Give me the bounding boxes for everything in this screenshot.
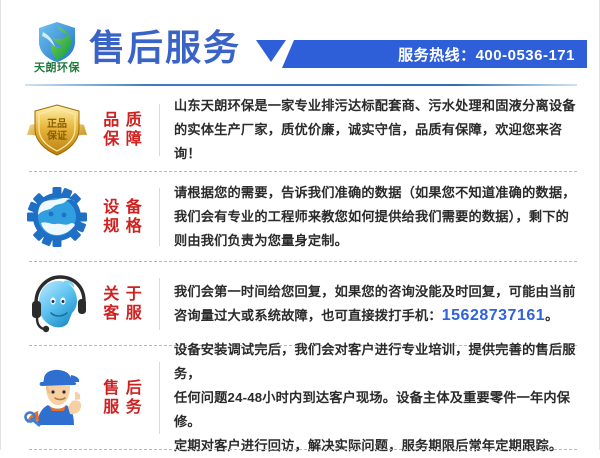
service-row-quality: 正品 保证 品 质 保 障 山东天朗环保是一家专业排污达标配套商、污水处理和固液…: [1, 88, 599, 172]
row-label-line2: 规 格: [99, 217, 147, 236]
worker-thumbs-up-mascot-icon: [22, 367, 92, 429]
row-body-line3: 则由我们负责为您量身定制。: [174, 229, 583, 253]
row-body-line1: 设备安装调试完后，我们会对客户进行专业培训，提供完善的售后服务，: [174, 338, 583, 386]
row-label-line1: 关 于: [99, 285, 147, 304]
svg-text:保证: 保证: [46, 129, 67, 142]
company-logo: 天朗环保: [23, 20, 91, 82]
row-label-support: 关 于 客 服: [99, 285, 147, 323]
row-body-line2: 我们会有专业的工程师来教您如何提供给我们需要的数据），剩下的: [174, 205, 583, 229]
row-body-quality: 山东天朗环保是一家专业排污达标配套商、污水处理和固液分离设备 的实体生产厂家，质…: [174, 94, 599, 166]
after-sales-service-banner: 天朗环保 售后服务 服务热线：400-0536-171: [0, 0, 600, 450]
leaf-shield-logo-icon: [35, 20, 79, 64]
row-body-aftersales: 设备安装调试完后，我们会对客户进行专业培训，提供完善的售后服务， 任何问题24-…: [174, 338, 599, 458]
row-icon-cell: [15, 346, 99, 450]
customer-service-headset-mascot-icon: [22, 273, 92, 335]
row-body-line1: 山东天朗环保是一家专业排污达标配套商、污水处理和固液分离设备: [174, 94, 583, 118]
row-body-line1: 请根据您的需要，告诉我们准确的数据（如果您不知道准确的数据，: [174, 181, 583, 205]
row-label-quality: 品 质 保 障: [99, 111, 147, 149]
service-hotline-text: 服务热线：400-0536-171: [398, 44, 575, 65]
row-vertical-divider: [159, 188, 160, 246]
row-icon-cell: [15, 262, 99, 346]
service-row-aftersales: 售 后 服 务 设备安装调试完后，我们会对客户进行专业培训，提供完善的售后服务，…: [1, 346, 599, 450]
service-row-specs: 设 备 规 格 请根据您的需要，告诉我们准确的数据（如果您不知道准确的数据， 我…: [1, 172, 599, 262]
quality-shield-badge-icon: 正品 保证: [22, 99, 92, 161]
row-label-line2: 服 务: [99, 398, 147, 417]
row-body-line1: 我们会第一时间给您回复，如果您的咨询没能及时回复，可能由当前: [174, 280, 583, 304]
row-label-line1: 售 后: [99, 379, 147, 398]
row-label-specs: 设 备 规 格: [99, 198, 147, 236]
row-icon-cell: [15, 172, 99, 262]
service-row-support: 关 于 客 服 我们会第一时间给您回复，如果您的咨询没能及时回复，可能由当前 咨…: [1, 262, 599, 346]
page-title: 售后服务: [89, 26, 241, 70]
row-label-line2: 保 障: [99, 130, 147, 149]
row-icon-cell: 正品 保证: [15, 88, 99, 172]
gear-globe-icon: [22, 186, 92, 248]
row-body-line3: 定期对客户进行回访，解决实际问题，服务期限后常年定期跟踪。: [174, 434, 583, 458]
row-body-line2: 任何问题24-48小时内到达客户现场。设备主体及重要零件一年内保修。: [174, 386, 583, 434]
row-vertical-divider: [159, 278, 160, 330]
row-label-line1: 品 质: [99, 111, 147, 130]
row-body-line2: 的实体生产厂家，质优价廉，诚实守信，品质有保障，欢迎您来咨询！: [174, 118, 583, 166]
row-label-line1: 设 备: [99, 198, 147, 217]
row-label-aftersales: 售 后 服 务: [99, 379, 147, 417]
row-body-line2-pre: 咨询量过大或系统故障，也可直接拨打手机：: [174, 308, 442, 323]
row-body-support: 我们会第一时间给您回复，如果您的咨询没能及时回复，可能由当前 咨询量过大或系统故…: [174, 280, 599, 328]
header-divider: [25, 84, 577, 86]
row-body-line2-post: 。: [545, 308, 558, 323]
svg-text:正品: 正品: [47, 118, 67, 130]
page-header: 天朗环保 售后服务 服务热线：400-0536-171: [1, 0, 600, 88]
logo-company-name: 天朗环保: [23, 62, 91, 75]
row-vertical-divider: [159, 362, 160, 434]
service-hotline-bar: 服务热线：400-0536-171: [298, 40, 587, 68]
row-body-line2: 咨询量过大或系统故障，也可直接拨打手机：15628737161。: [174, 304, 583, 328]
row-vertical-divider: [159, 104, 160, 156]
row-label-line2: 客 服: [99, 304, 147, 323]
row-body-specs: 请根据您的需要，告诉我们准确的数据（如果您不知道准确的数据， 我们会有专业的工程…: [174, 181, 599, 253]
mobile-phone-number: 15628737161: [442, 307, 545, 324]
chevron-down-icon: [256, 40, 298, 68]
